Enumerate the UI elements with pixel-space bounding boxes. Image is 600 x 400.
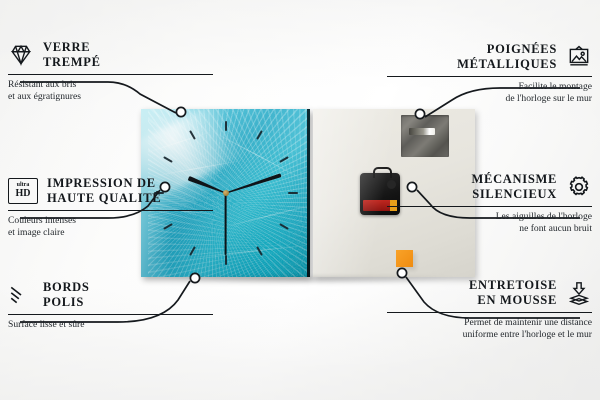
callout-title-line2: SILENCIEUX — [472, 187, 557, 202]
callout-poignees: POIGNÉES MÉTALLIQUES Facilite le montage… — [387, 42, 592, 105]
callout-rule — [387, 206, 592, 207]
metal-hanger-plate — [401, 115, 449, 157]
callout-title-line2: TREMPÉ — [43, 55, 101, 70]
callout-title-line1: POIGNÉES — [457, 42, 557, 57]
callout-desc-line2: et image claire — [8, 227, 213, 239]
diamond-icon — [8, 42, 34, 68]
callout-title-line2: HAUTE QUALITÉ — [47, 191, 161, 206]
callout-bords-polis: BORDS POLIS Surface lisse et sûre — [8, 280, 213, 331]
clock-second-hand — [225, 193, 227, 255]
callout-rule — [387, 312, 592, 313]
callout-desc-line1: Facilite le montage — [387, 81, 592, 93]
callout-rule — [8, 74, 213, 75]
callout-title-line1: VERRE — [43, 40, 101, 55]
ultra-hd-icon-bottom: HD — [16, 189, 31, 199]
hanger-slot — [409, 128, 435, 135]
picture-hanger-icon — [566, 44, 592, 70]
callout-title-line1: BORDS — [43, 280, 90, 295]
callout-desc-line1: Surface lisse et sûre — [8, 319, 213, 331]
callout-rule — [8, 314, 213, 315]
callout-rule — [8, 210, 213, 211]
callout-desc-line1: Les aiguilles de l'horloge — [387, 211, 592, 223]
ultra-hd-icon: ultra HD — [8, 178, 38, 204]
callout-title-line2: POLIS — [43, 295, 90, 310]
gear-icon — [566, 174, 592, 200]
callout-verre-trempe: VERRE TREMPÉ Résistant aux bris et aux é… — [8, 40, 213, 103]
clock-center-cap — [223, 190, 229, 196]
callout-title-line1: MÉCANISME — [472, 172, 557, 187]
polished-edges-icon — [8, 282, 34, 308]
callout-entretoise: ENTRETOISE EN MOUSSE Permet de maintenir… — [387, 278, 592, 341]
callout-desc-line1: Permet de maintenir une distance — [387, 317, 592, 329]
callout-title-line1: IMPRESSION DE — [47, 176, 161, 191]
callout-desc-line2: de l'horloge sur le mur — [387, 93, 592, 105]
callout-desc-line1: Couleurs intenses — [8, 215, 213, 227]
infographic-canvas: VERRE TREMPÉ Résistant aux bris et aux é… — [0, 0, 600, 400]
callout-impression: ultra HD IMPRESSION DE HAUTE QUALITÉ Cou… — [8, 176, 213, 239]
callout-mecanisme: MÉCANISME SILENCIEUX Les aiguilles de l'… — [387, 172, 592, 235]
foam-spacer-pad — [396, 250, 413, 267]
foam-spacer-icon — [566, 280, 592, 306]
callout-title-line2: EN MOUSSE — [469, 293, 557, 308]
callout-title-line1: ENTRETOISE — [469, 278, 557, 293]
callout-desc-line2: ne font aucun bruit — [387, 223, 592, 235]
callout-desc-line2: et aux égratignures — [8, 91, 213, 103]
callout-desc-line1: Résistant aux bris — [8, 79, 213, 91]
callout-desc-line2: uniforme entre l'horloge et le mur — [387, 329, 592, 341]
callout-rule — [387, 76, 592, 77]
glass-right-edge — [307, 109, 310, 277]
callout-title-line2: MÉTALLIQUES — [457, 57, 557, 72]
